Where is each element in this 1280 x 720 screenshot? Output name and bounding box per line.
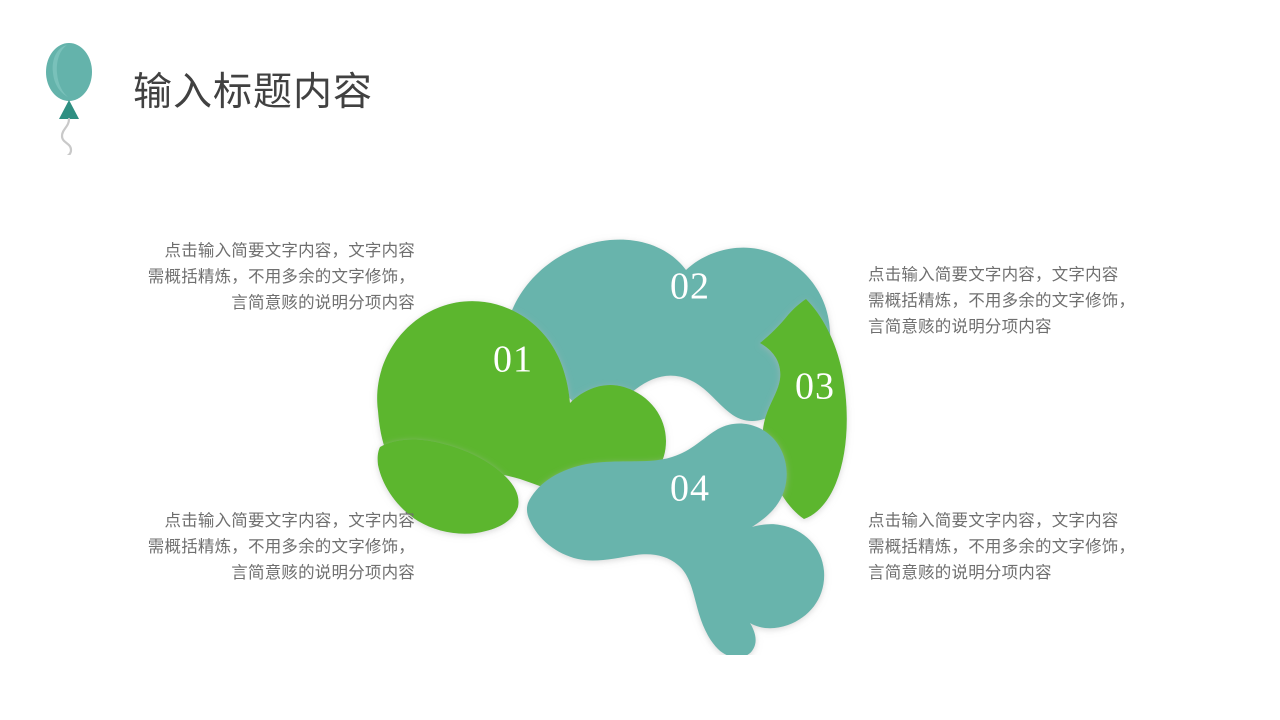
text-line: 点击输入简要文字内容，文字内容 bbox=[868, 262, 1198, 288]
brain-diagram: 02 03 01 04 bbox=[360, 215, 890, 655]
text-line: 言简意赅的说明分项内容 bbox=[868, 560, 1198, 586]
text-line: 点击输入简要文字内容，文字内容 bbox=[868, 508, 1198, 534]
text-line: 言简意赅的说明分项内容 bbox=[868, 314, 1198, 340]
brain-number-02: 02 bbox=[670, 266, 710, 308]
text-block-03: 点击输入简要文字内容，文字内容 需概括精炼，不用多余的文字修饰， 言简意赅的说明… bbox=[868, 508, 1198, 586]
text-line: 需概括精炼，不用多余的文字修饰， bbox=[95, 534, 415, 560]
text-line: 点击输入简要文字内容，文字内容 bbox=[95, 238, 415, 264]
text-line: 言简意赅的说明分项内容 bbox=[95, 290, 415, 316]
text-block-02: 点击输入简要文字内容，文字内容 需概括精炼，不用多余的文字修饰， 言简意赅的说明… bbox=[868, 262, 1198, 340]
brain-number-04: 04 bbox=[670, 468, 710, 510]
text-block-01: 点击输入简要文字内容，文字内容 需概括精炼，不用多余的文字修饰， 言简意赅的说明… bbox=[95, 238, 415, 316]
text-line: 需概括精炼，不用多余的文字修饰， bbox=[868, 288, 1198, 314]
text-block-04: 点击输入简要文字内容，文字内容 需概括精炼，不用多余的文字修饰， 言简意赅的说明… bbox=[95, 508, 415, 586]
page-title: 输入标题内容 bbox=[133, 70, 373, 116]
slide-header: 输入标题内容 bbox=[30, 30, 630, 150]
slide-canvas: 输入标题内容 02 03 01 bbox=[0, 0, 1280, 720]
balloon-icon bbox=[38, 35, 108, 155]
text-line: 点击输入简要文字内容，文字内容 bbox=[95, 508, 415, 534]
text-line: 言简意赅的说明分项内容 bbox=[95, 560, 415, 586]
text-line: 需概括精炼，不用多余的文字修饰， bbox=[95, 264, 415, 290]
brain-number-01: 01 bbox=[493, 339, 533, 381]
brain-number-03: 03 bbox=[795, 366, 835, 408]
text-line: 需概括精炼，不用多余的文字修饰， bbox=[868, 534, 1198, 560]
